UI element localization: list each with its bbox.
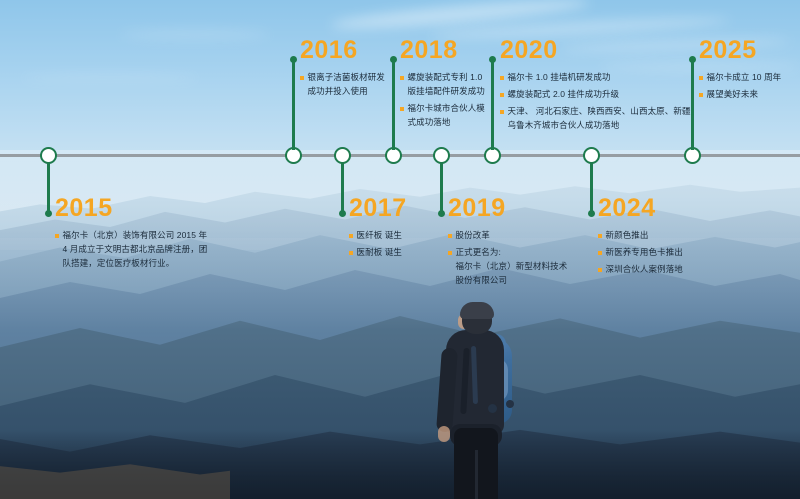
bullet-dot-icon <box>699 76 703 80</box>
bullet-item: 医耐板 诞生 <box>349 245 444 259</box>
year-label-2025: 2025 <box>699 38 799 63</box>
bullet-text: 福尔卡 1.0 挂墙机研发成功 <box>508 70 611 84</box>
backpack-buckle <box>506 400 514 408</box>
year-label-2018: 2018 <box>400 38 505 63</box>
year-label-2019: 2019 <box>448 196 583 221</box>
timeline-entry-2020[interactable]: 2020 福尔卡 1.0 挂墙机研发成功 螺旋装配式 2.0 挂件成功升级 天津… <box>500 38 695 135</box>
cloud <box>20 74 200 82</box>
timeline-stem-dot-2017 <box>339 210 346 217</box>
bullet-dot-icon <box>55 234 59 238</box>
bullet-item: 正式更名为: 福尔卡（北京）新型材料技术 股份有限公司 <box>448 245 583 287</box>
bullet-dot-icon <box>699 93 703 97</box>
timeline-stem-2015 <box>47 163 50 214</box>
bullet-text: 展望美好未来 <box>707 87 759 101</box>
bullet-list-2020: 福尔卡 1.0 挂墙机研发成功 螺旋装配式 2.0 挂件成功升级 天津、 河北石… <box>500 70 695 132</box>
bullet-item: 螺旋装配式 2.0 挂件成功升级 <box>500 87 695 101</box>
bullet-text: 福尔卡（北京）装饰有限公司 2015 年 4 月成立于文明古都北京品牌注册，团 … <box>63 228 208 270</box>
timeline-entry-2024[interactable]: 2024 新颜色推出 新医养专用色卡推出 深圳合伙人案例落地 <box>598 196 738 279</box>
bullet-item: 股份改革 <box>448 228 583 242</box>
bullet-item: 福尔卡 1.0 挂墙机研发成功 <box>500 70 695 84</box>
hiker-leg-split <box>475 450 478 499</box>
timeline-node-2019[interactable] <box>433 147 450 164</box>
bullet-text: 医纤板 诞生 <box>357 228 402 242</box>
timeline-stem-2016 <box>292 60 295 150</box>
bullet-dot-icon <box>448 251 452 255</box>
hiker-hand <box>438 426 450 442</box>
bullet-text: 银离子洁菌板材研发 成功并投入使用 <box>308 70 385 98</box>
bullet-item: 福尔卡（北京）装饰有限公司 2015 年 4 月成立于文明古都北京品牌注册，团 … <box>55 228 245 270</box>
bullet-list-2024: 新颜色推出 新医养专用色卡推出 深圳合伙人案例落地 <box>598 228 738 276</box>
bullet-item: 螺旋装配式专利 1.0 版挂墙配件研发成功 <box>400 70 505 98</box>
timeline-node-2024[interactable] <box>583 147 600 164</box>
bullet-dot-icon <box>598 234 602 238</box>
bullet-list-2025: 福尔卡成立 10 周年 展望美好未来 <box>699 70 799 101</box>
timeline-stem-2024 <box>590 163 593 214</box>
bullet-text: 天津、 河北石家庄、陕西西安、山西太原、新疆 乌鲁木齐城市合伙人成功落地 <box>508 104 691 132</box>
cloud <box>120 30 270 39</box>
bullet-list-2017: 医纤板 诞生 医耐板 诞生 <box>349 228 444 259</box>
bullet-dot-icon <box>349 234 353 238</box>
bullet-item: 医纤板 诞生 <box>349 228 444 242</box>
bullet-item: 新颜色推出 <box>598 228 738 242</box>
timeline-infographic: 2015 福尔卡（北京）装饰有限公司 2015 年 4 月成立于文明古都北京品牌… <box>0 0 800 499</box>
bullet-list-2019: 股份改革 正式更名为: 福尔卡（北京）新型材料技术 股份有限公司 <box>448 228 583 287</box>
bullet-text: 福尔卡成立 10 周年 <box>707 70 782 84</box>
bullet-text: 螺旋装配式 2.0 挂件成功升级 <box>508 87 620 101</box>
bullet-dot-icon <box>400 107 404 111</box>
bullet-dot-icon <box>598 268 602 272</box>
bullet-text: 股份改革 <box>456 228 490 242</box>
bullet-dot-icon <box>300 76 304 80</box>
bullet-dot-icon <box>500 110 504 114</box>
timeline-stem-dot-2015 <box>45 210 52 217</box>
timeline-entry-2017[interactable]: 2017 医纤板 诞生 医耐板 诞生 <box>349 196 444 262</box>
bullet-text: 新医养专用色卡推出 <box>606 245 683 259</box>
hiker-figure <box>420 300 530 499</box>
bullet-item: 银离子洁菌板材研发 成功并投入使用 <box>300 70 400 98</box>
bullet-item: 展望美好未来 <box>699 87 799 101</box>
bullet-item: 福尔卡城市合伙人模 式成功落地 <box>400 101 505 129</box>
bullet-item: 福尔卡成立 10 周年 <box>699 70 799 84</box>
bullet-item: 新医养专用色卡推出 <box>598 245 738 259</box>
bullet-text: 医耐板 诞生 <box>357 245 402 259</box>
bullet-dot-icon <box>598 251 602 255</box>
timeline-entry-2025[interactable]: 2025 福尔卡成立 10 周年 展望美好未来 <box>699 38 799 104</box>
timeline-entry-2018[interactable]: 2018 螺旋装配式专利 1.0 版挂墙配件研发成功 福尔卡城市合伙人模 式成功… <box>400 38 505 132</box>
bullet-text: 新颜色推出 <box>606 228 649 242</box>
bullet-dot-icon <box>349 251 353 255</box>
bullet-item: 天津、 河北石家庄、陕西西安、山西太原、新疆 乌鲁木齐城市合伙人成功落地 <box>500 104 695 132</box>
timeline-node-2015[interactable] <box>40 147 57 164</box>
bullet-text: 正式更名为: 福尔卡（北京）新型材料技术 股份有限公司 <box>456 245 568 287</box>
bullet-list-2015: 福尔卡（北京）装饰有限公司 2015 年 4 月成立于文明古都北京品牌注册，团 … <box>55 228 245 270</box>
bullet-list-2018: 螺旋装配式专利 1.0 版挂墙配件研发成功 福尔卡城市合伙人模 式成功落地 <box>400 70 505 129</box>
timeline-stem-2017 <box>341 163 344 214</box>
bullet-list-2016: 银离子洁菌板材研发 成功并投入使用 <box>300 70 400 98</box>
bullet-item: 深圳合伙人案例落地 <box>598 262 738 276</box>
year-label-2024: 2024 <box>598 196 738 221</box>
timeline-entry-2019[interactable]: 2019 股份改革 正式更名为: 福尔卡（北京）新型材料技术 股份有限公司 <box>448 196 583 290</box>
bullet-dot-icon <box>448 234 452 238</box>
timeline-stem-dot-2016 <box>290 56 297 63</box>
timeline-stem-dot-2024 <box>588 210 595 217</box>
bullet-dot-icon <box>500 76 504 80</box>
backpack-buckle <box>488 404 497 413</box>
bullet-text: 福尔卡城市合伙人模 式成功落地 <box>408 101 485 129</box>
hiker-hat <box>460 302 494 319</box>
year-label-2017: 2017 <box>349 196 444 221</box>
timeline-entry-2015[interactable]: 2015 福尔卡（北京）装饰有限公司 2015 年 4 月成立于文明古都北京品牌… <box>55 196 245 273</box>
bullet-text: 深圳合伙人案例落地 <box>606 262 683 276</box>
year-label-2020: 2020 <box>500 38 695 63</box>
bullet-dot-icon <box>400 76 404 80</box>
year-label-2016: 2016 <box>300 38 400 63</box>
timeline-node-2017[interactable] <box>334 147 351 164</box>
year-label-2015: 2015 <box>55 196 245 221</box>
bullet-text: 螺旋装配式专利 1.0 版挂墙配件研发成功 <box>408 70 485 98</box>
timeline-entry-2016[interactable]: 2016 银离子洁菌板材研发 成功并投入使用 <box>300 38 400 101</box>
bullet-dot-icon <box>500 93 504 97</box>
